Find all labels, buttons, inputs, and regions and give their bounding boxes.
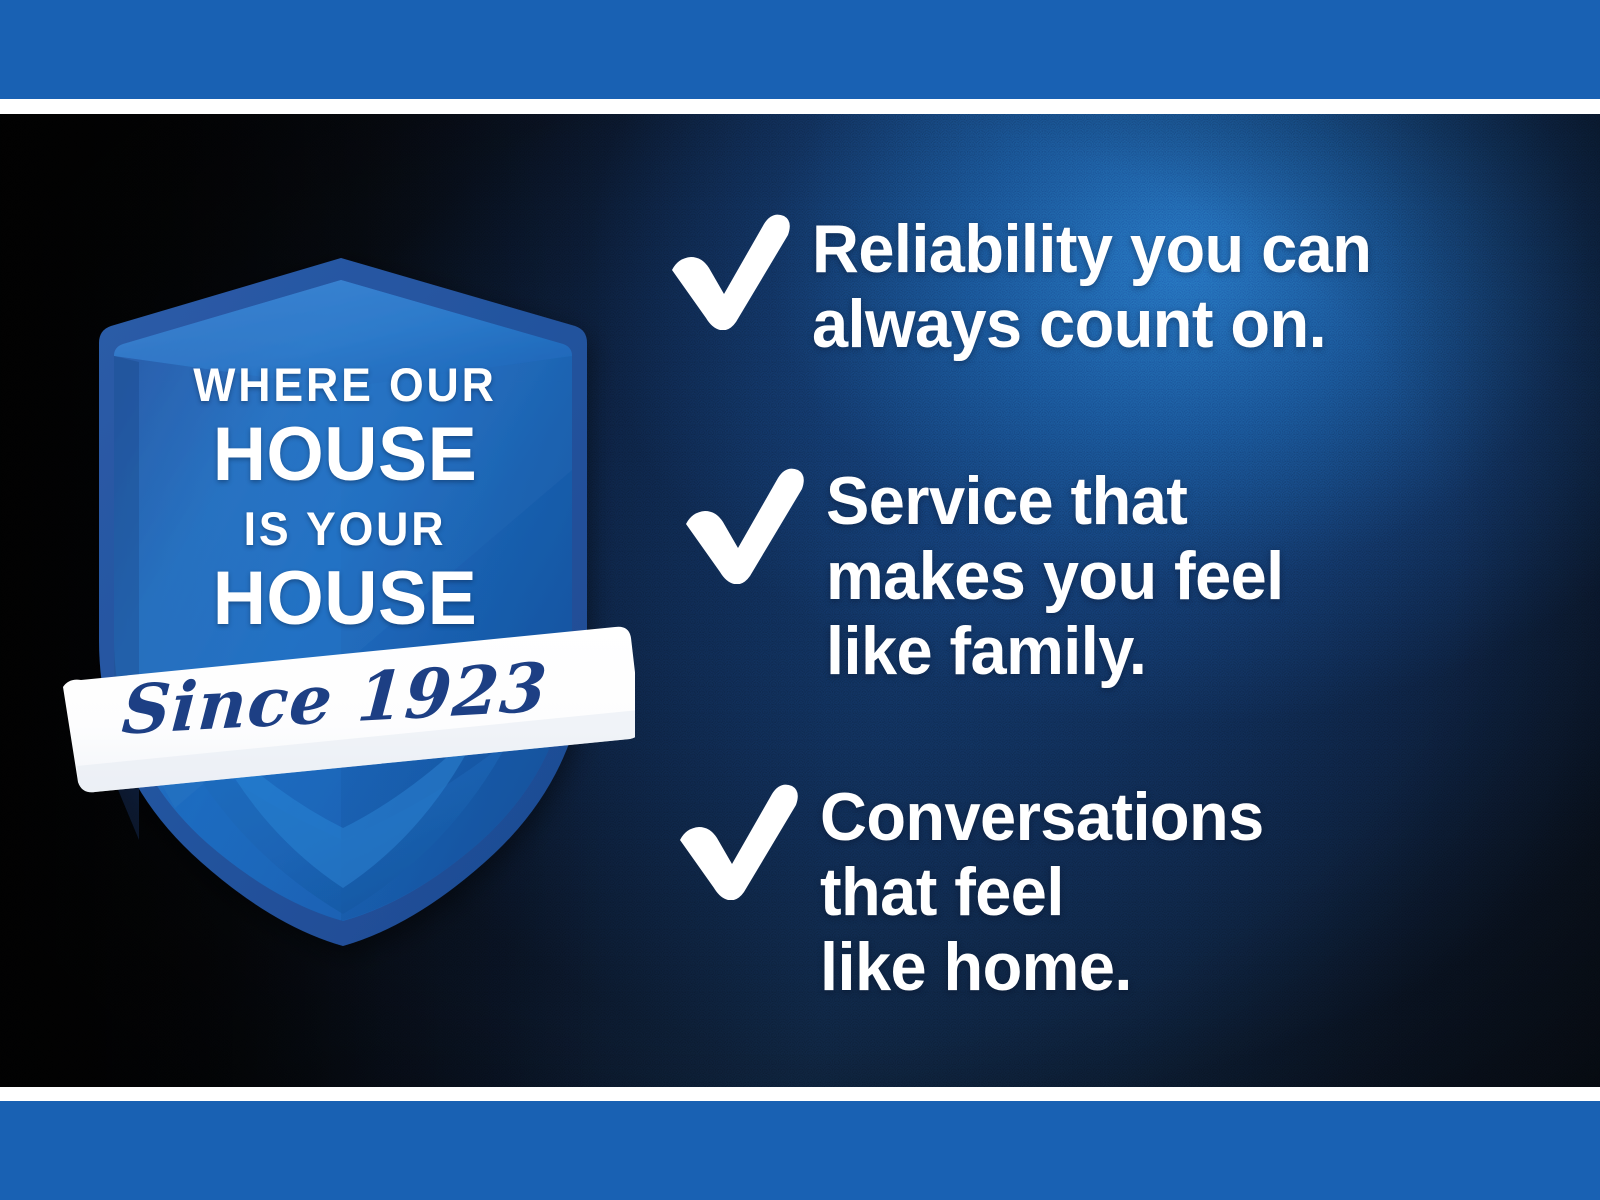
- benefit-item: Reliability you can always count on.: [660, 208, 1398, 362]
- checkmark-icon: [674, 462, 810, 584]
- benefit-item: Conversations that feel like home.: [668, 778, 1285, 1004]
- top-brand-bar: [0, 0, 1600, 99]
- benefit-text: Service that makes you feel like family.: [826, 462, 1284, 688]
- benefit-item: Service that makes you feel like family.: [674, 462, 1305, 688]
- checkmark-icon: [660, 208, 796, 330]
- shield-emblem: WHERE OUR HOUSE IS YOUR HOUSE Since 1923: [55, 140, 635, 970]
- checkmark-icon: [668, 778, 804, 900]
- bottom-brand-bar: [0, 1101, 1600, 1200]
- promo-graphic: WHERE OUR HOUSE IS YOUR HOUSE Since 1923…: [0, 0, 1600, 1200]
- benefit-text: Reliability you can always count on.: [812, 208, 1371, 362]
- benefit-text: Conversations that feel like home.: [820, 778, 1264, 1004]
